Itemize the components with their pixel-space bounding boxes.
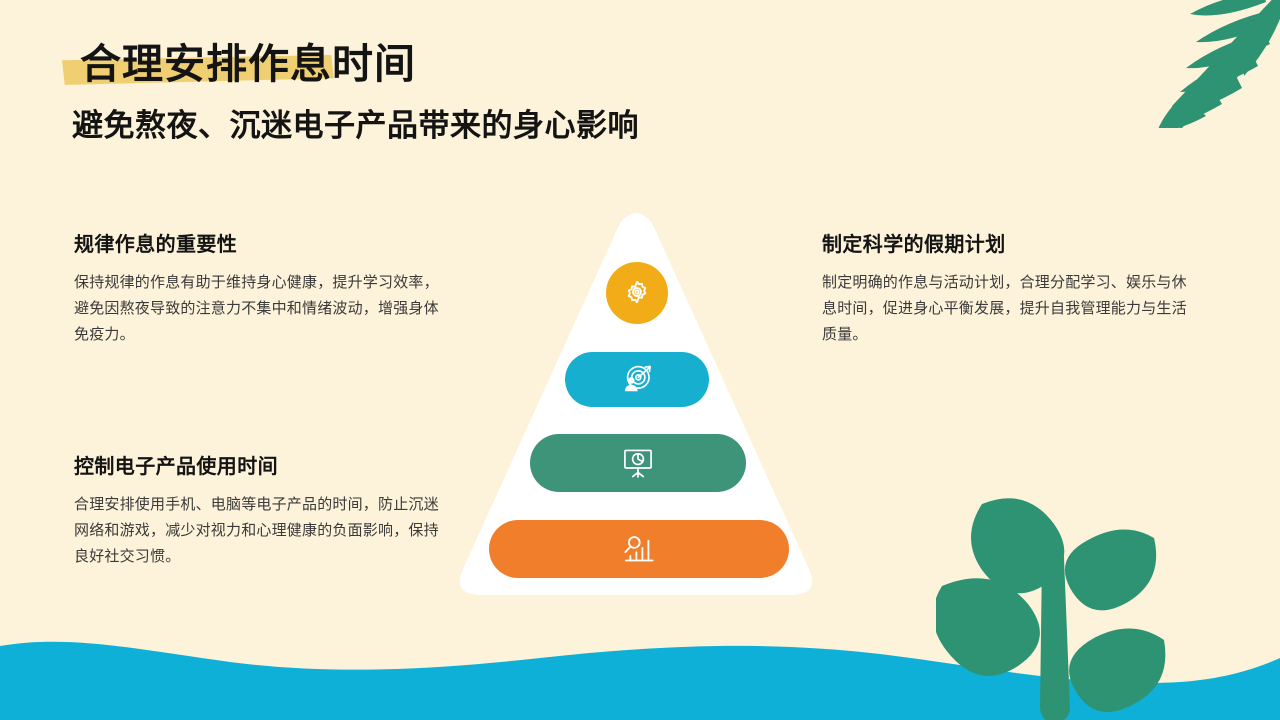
content-block-regular-schedule: 规律作息的重要性 保持规律的作息有助于维持身心健康，提升学习效率，避免因熬夜导致… [74, 228, 452, 347]
sprout-decoration [936, 490, 1176, 720]
target-person-icon [620, 363, 654, 397]
page-title-wrapper: 合理安排作息时间 [72, 42, 426, 88]
block-title: 制定科学的假期计划 [822, 228, 1200, 257]
gear-icon [622, 278, 652, 308]
content-block-holiday-plan: 制定科学的假期计划 制定明确的作息与活动计划，合理分配学习、娱乐与休息时间，促进… [822, 228, 1200, 347]
bottom-wave-decoration [0, 610, 1280, 720]
block-body: 保持规律的作息有助于维持身心健康，提升学习效率，避免因熬夜导致的注意力不集中和情… [74, 270, 452, 347]
pyramid-layer-2[interactable] [565, 352, 709, 407]
bar-chart-search-icon [622, 532, 656, 566]
pyramid-layer-4[interactable] [489, 520, 789, 578]
block-title: 控制电子产品使用时间 [74, 450, 452, 479]
pyramid-diagram [450, 205, 822, 607]
block-title: 规律作息的重要性 [74, 228, 452, 257]
pyramid-layer-3[interactable] [530, 434, 746, 492]
content-block-screen-time: 控制电子产品使用时间 合理安排使用手机、电脑等电子产品的时间，防止沉迷网络和游戏… [74, 450, 452, 569]
block-body: 制定明确的作息与活动计划，合理分配学习、娱乐与休息时间，促进身心平衡发展，提升自… [822, 270, 1200, 347]
page-subtitle: 避免熬夜、沉迷电子产品带来的身心影响 [72, 107, 972, 144]
slide-header: 合理安排作息时间 避免熬夜、沉迷电子产品带来的身心影响 [72, 42, 972, 144]
block-body: 合理安排使用手机、电脑等电子产品的时间，防止沉迷网络和游戏，减少对视力和心理健康… [74, 492, 452, 569]
presentation-chart-icon [621, 446, 655, 480]
palm-leaf-decoration [1076, 0, 1280, 128]
page-title: 合理安排作息时间 [80, 42, 416, 88]
pyramid-layer-1[interactable] [606, 262, 668, 324]
